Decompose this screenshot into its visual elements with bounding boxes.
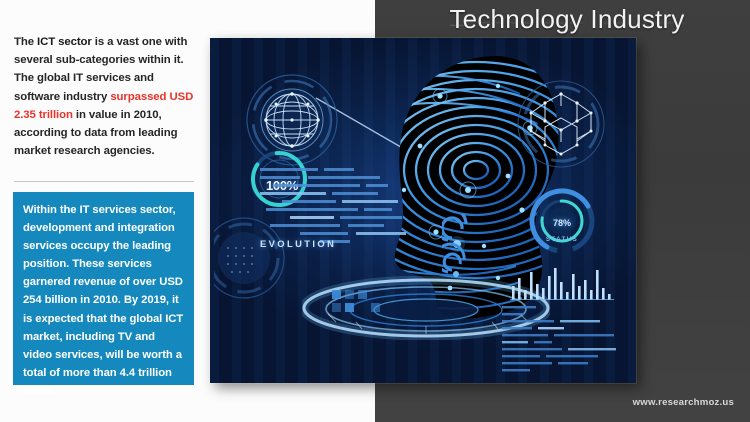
evolution-label: EVOLUTION bbox=[260, 238, 336, 249]
section-divider bbox=[14, 181, 194, 182]
left-text-column: The ICT sector is a vast one with severa… bbox=[0, 0, 210, 422]
data-line-readout-left bbox=[260, 166, 420, 246]
p2-seg3: . bbox=[53, 385, 56, 397]
paragraph-it-services-box: Within the IT services sector, developme… bbox=[13, 192, 194, 385]
gauge-78-value: 78% bbox=[526, 218, 598, 228]
footer-url: www.researchmoz.us bbox=[633, 397, 734, 408]
bar-chart-readout bbox=[510, 266, 614, 300]
dots-grid-decoration bbox=[332, 290, 384, 320]
p2-seg1: Within the IT services sector, developme… bbox=[23, 204, 176, 288]
gauge-78-status: 78% STATUS bbox=[526, 188, 598, 264]
p1-seg1: The bbox=[14, 36, 37, 48]
molecule-sphere-icon bbox=[515, 78, 607, 170]
data-line-readout-right bbox=[502, 306, 622, 376]
wifi-signal-icon bbox=[442, 214, 478, 284]
paragraph-it-services-text: Within the IT services sector, developme… bbox=[23, 201, 186, 400]
page-title: Technology Industry bbox=[402, 4, 732, 34]
p1-bold-ict-sector: ICT sector bbox=[37, 36, 92, 48]
technology-hero-image: 100% 78% STATUS bbox=[210, 38, 636, 383]
gauge-78-caption: STATUS bbox=[526, 236, 598, 243]
slide-root: Technology Industry Technology Industry … bbox=[0, 0, 750, 422]
paragraph-ict-sector: The ICT sector is a vast one with severa… bbox=[14, 33, 196, 160]
